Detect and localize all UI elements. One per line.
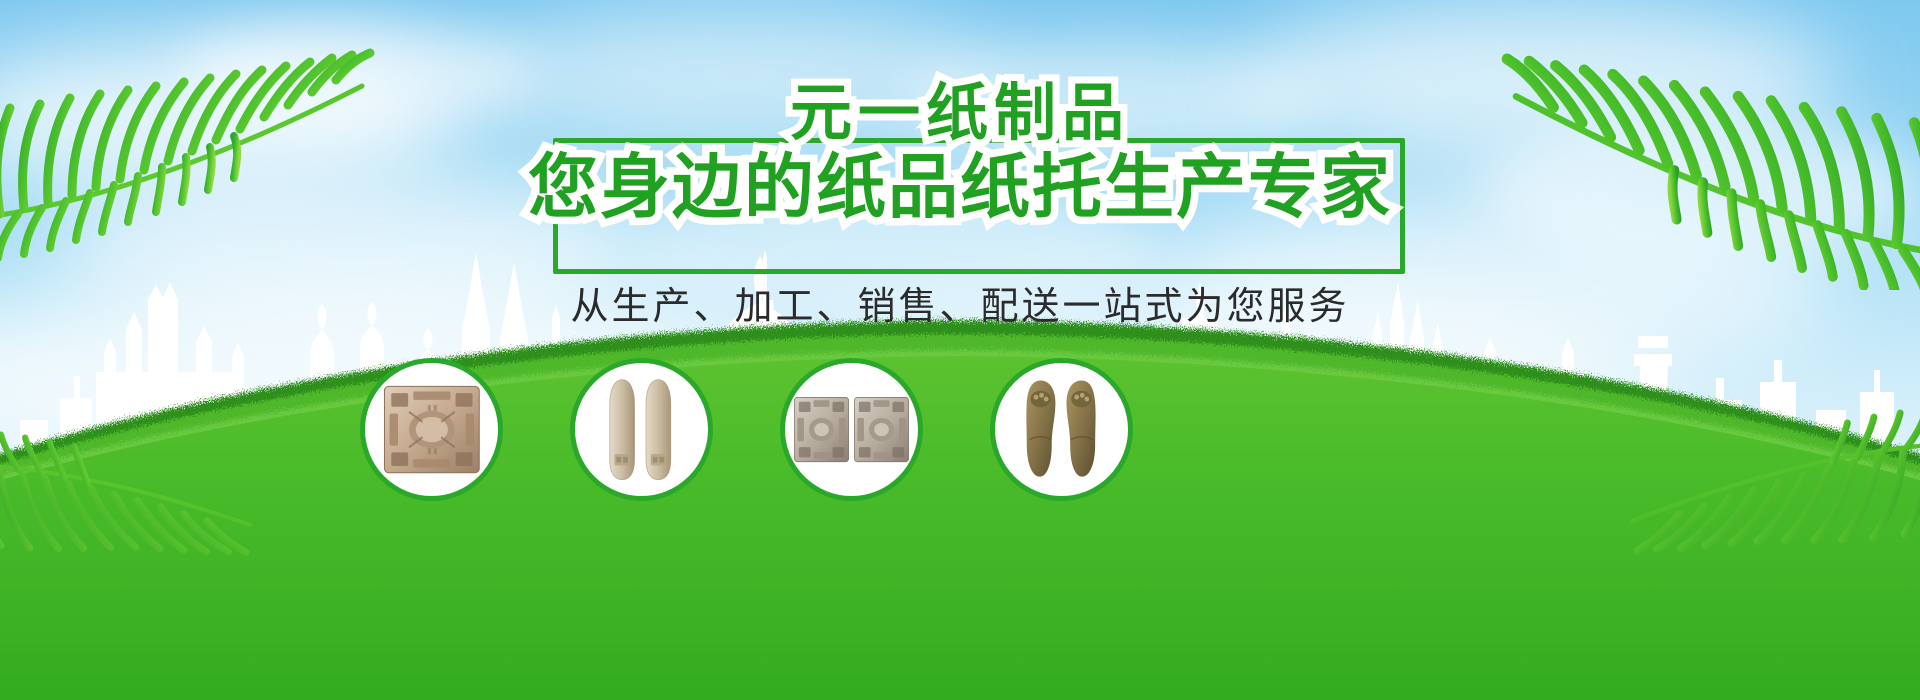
promo-banner: 元一纸制品 您身边的纸品纸托生产专家 从生产、加工、销售、配送一站式为您服务 — [0, 0, 1920, 700]
product-circle-molded-pulp-shoe-insert-pair[interactable] — [570, 358, 713, 501]
product-circle-molded-pulp-double-tray[interactable] — [780, 358, 923, 501]
product-image-molded-pulp-square-tray — [380, 383, 484, 476]
product-circle-row — [0, 0, 1920, 700]
product-image-molded-pulp-double-tray — [793, 391, 910, 468]
product-image-molded-pulp-shoe-insert-pair — [600, 372, 682, 486]
product-circle-molded-pulp-square-tray[interactable] — [360, 358, 503, 501]
product-circle-molded-pulp-shoe-tree-pair[interactable] — [990, 358, 1133, 501]
product-image-molded-pulp-shoe-tree-pair — [1018, 375, 1106, 484]
